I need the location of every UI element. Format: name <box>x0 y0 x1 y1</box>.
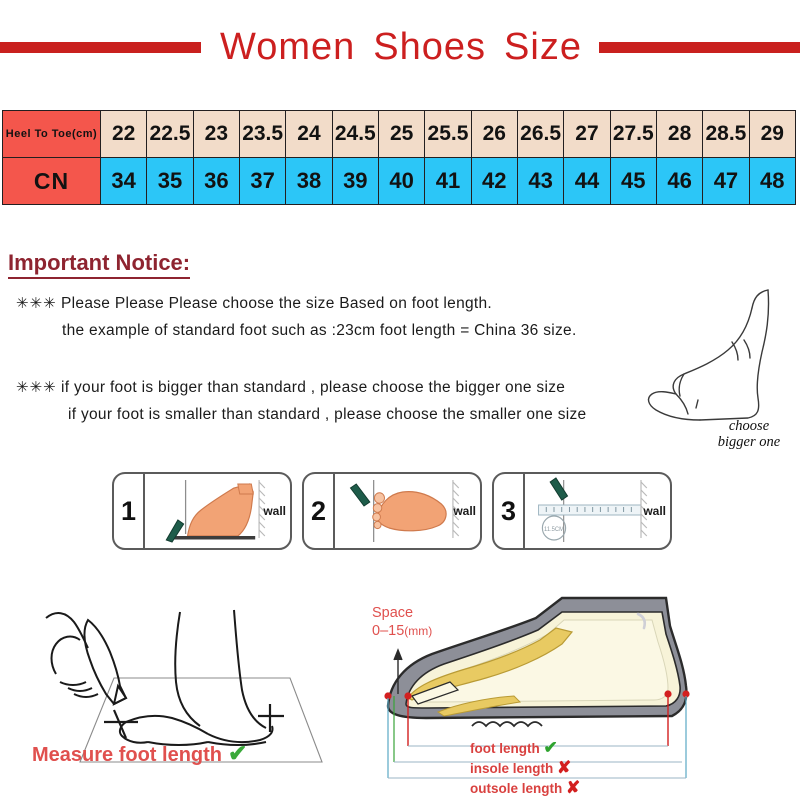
measure-steps: 1 wall <box>112 472 672 550</box>
step-1-illustration: wall <box>145 474 290 548</box>
cn-cell: 42 <box>471 158 517 205</box>
dimension-label-text: insole length <box>470 761 553 776</box>
step-number-1: 1 <box>114 474 145 548</box>
cm-cell: 28 <box>656 111 702 158</box>
space-label-line-2: 0–15 <box>372 623 404 639</box>
dimension-outsole-length: outsole length ✘ <box>470 778 730 798</box>
measure-foot-caption: Measure foot length✔ <box>32 740 247 767</box>
notice-line-2: ✳✳✳ if your foot is bigger than standard… <box>16 378 565 397</box>
size-table: Heel To Toe(cm) 22 22.5 23 23.5 24 24.5 … <box>2 110 796 205</box>
step-2-illustration: wall <box>335 474 480 548</box>
table-row-cn: CN 34 35 36 37 38 39 40 41 42 43 44 45 4… <box>3 158 796 205</box>
dimension-insole-length: insole length ✘ <box>470 758 730 778</box>
row-header-heel-to-toe: Heel To Toe(cm) <box>3 111 101 158</box>
title-word-1: Women <box>220 26 355 68</box>
notice-line-1-text: Please Please Please choose the size Bas… <box>61 295 492 312</box>
space-label: Space 0–15(mm) <box>372 604 432 640</box>
foot-caption-line-1: choose <box>694 418 800 434</box>
cm-cell: 27 <box>564 111 610 158</box>
wall-label-2: wall <box>453 504 476 518</box>
check-mark-icon: ✔ <box>544 738 558 757</box>
title-rule-right <box>599 42 800 53</box>
title-word-3: Size <box>504 26 582 68</box>
title-word-2: Shoes <box>373 26 486 68</box>
page-title: WomenShoesSize <box>207 28 595 66</box>
cm-cell: 24 <box>286 111 332 158</box>
cm-cell: 28.5 <box>703 111 749 158</box>
measure-caption-text: Measure foot length <box>32 744 222 766</box>
cm-cell: 23 <box>193 111 239 158</box>
cn-cell: 37 <box>239 158 285 205</box>
cm-cell: 26 <box>471 111 517 158</box>
asterisk-bullet-icon: ✳✳✳ <box>16 295 57 312</box>
dimension-foot-length: foot length ✔ <box>470 738 730 758</box>
dimension-label-text: foot length <box>470 741 540 756</box>
foot-art-caption: choose bigger one <box>694 418 800 450</box>
asterisk-bullet-icon: ✳✳✳ <box>16 379 57 396</box>
cn-cell: 41 <box>425 158 471 205</box>
step-number-2: 2 <box>304 474 335 548</box>
table-row-cm: Heel To Toe(cm) 22 22.5 23 23.5 24 24.5 … <box>3 111 796 158</box>
cm-cell: 25.5 <box>425 111 471 158</box>
cn-cell: 46 <box>656 158 702 205</box>
dimension-labels: foot length ✔ insole length ✘ outsole le… <box>470 738 730 798</box>
cross-mark-icon: ✘ <box>566 778 580 797</box>
dimension-label-text: outsole length <box>470 781 562 796</box>
cn-cell: 38 <box>286 158 332 205</box>
title-rule-left <box>0 42 201 53</box>
row-header-cn: CN <box>3 158 101 205</box>
notice-line-1b: the example of standard foot such as :23… <box>62 322 577 340</box>
notice-line-2-text: if your foot is bigger than standard , p… <box>61 379 565 396</box>
step-panel-2: 2 w <box>302 472 482 550</box>
cn-cell: 48 <box>749 158 795 205</box>
page-title-bar: WomenShoesSize <box>0 18 800 76</box>
cn-cell: 39 <box>332 158 378 205</box>
cm-cell: 24.5 <box>332 111 378 158</box>
cn-cell: 36 <box>193 158 239 205</box>
step-number-3: 3 <box>494 474 525 548</box>
step-3-illustration: 11.5CM wall <box>525 474 670 548</box>
important-notice-heading: Important Notice: <box>8 250 190 279</box>
space-unit: (mm) <box>404 624 432 638</box>
wall-label-3: wall <box>643 504 666 518</box>
check-mark-icon: ✔ <box>228 740 247 766</box>
notice-line-2b: if your foot is smaller than standard , … <box>68 406 586 424</box>
cm-cell: 26.5 <box>517 111 563 158</box>
cn-cell: 43 <box>517 158 563 205</box>
wall-label-1: wall <box>263 504 286 518</box>
ruler-mark-label: 11.5CM <box>544 527 564 533</box>
size-chart-page: WomenShoesSize Heel To Toe(cm) 22 22.5 2… <box>0 0 800 800</box>
notice-line-1: ✳✳✳ Please Please Please choose the size… <box>16 294 492 313</box>
step-panel-1: 1 wall <box>112 472 292 550</box>
cm-cell: 29 <box>749 111 795 158</box>
space-label-line-1: Space <box>372 604 432 622</box>
cn-cell: 44 <box>564 158 610 205</box>
cn-cell: 47 <box>703 158 749 205</box>
cm-cell: 22 <box>101 111 147 158</box>
cm-cell: 27.5 <box>610 111 656 158</box>
cm-cell: 23.5 <box>239 111 285 158</box>
foot-caption-line-2: bigger one <box>694 434 800 450</box>
cn-cell: 35 <box>147 158 193 205</box>
cn-cell: 40 <box>378 158 424 205</box>
cn-cell: 45 <box>610 158 656 205</box>
cm-cell: 25 <box>378 111 424 158</box>
cross-mark-icon: ✘ <box>557 758 571 777</box>
step-panel-3: 3 11.5CM <box>492 472 672 550</box>
cn-cell: 34 <box>101 158 147 205</box>
cm-cell: 22.5 <box>147 111 193 158</box>
